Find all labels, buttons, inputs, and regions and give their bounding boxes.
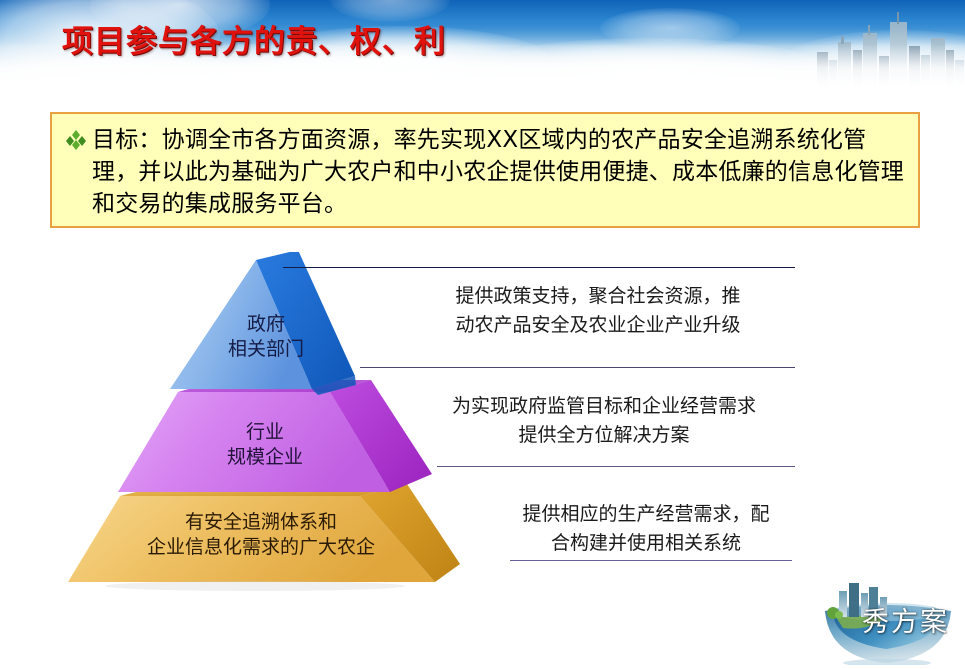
divider-line (437, 466, 795, 467)
divider-line (510, 560, 792, 561)
description-line2: 提供全方位解决方案 (404, 421, 804, 450)
description-agri-enterprises: 提供相应的生产经营需求，配 合构建并使用相关系统 (486, 500, 806, 558)
divider-line (283, 267, 795, 268)
description-line1: 提供政策支持，聚合社会资源，推 (388, 282, 808, 311)
watermark: 秀方案 (791, 573, 961, 665)
description-line2: 动农产品安全及农业企业产业升级 (388, 311, 808, 340)
watermark-text: 秀方案 (862, 600, 949, 639)
description-industry: 为实现政府监管目标和企业经营需求 提供全方位解决方案 (404, 392, 804, 450)
goal-callout-box: 目标：协调全市各方面资源，率先实现XX区域内的农产品安全追溯系统化管理，并以此为… (50, 112, 920, 228)
diamond-cluster-icon (66, 124, 92, 150)
pyramid-diagram: 政府 相关部门 行业 规模企业 有安全追溯体系和 企业信息化需求的广大农企 提供… (0, 252, 965, 604)
header-banner: 项目参与各方的责、权、利 (0, 0, 965, 88)
description-government: 提供政策支持，聚合社会资源，推 动农产品安全及农业企业产业升级 (388, 282, 808, 340)
description-line2: 合构建并使用相关系统 (486, 529, 806, 558)
description-line1: 提供相应的生产经营需求，配 (486, 500, 806, 529)
wechat-icon (791, 605, 835, 637)
divider-line (360, 367, 795, 368)
page-title: 项目参与各方的责、权、利 (62, 16, 446, 61)
slide-root: 项目参与各方的责、权、利 目标：协调全市各方面资源，率先实现XX区域内的农产品安… (0, 0, 965, 669)
goal-text: 目标：协调全市各方面资源，率先实现XX区域内的农产品安全追溯系统化管理，并以此为… (92, 124, 906, 220)
description-line1: 为实现政府监管目标和企业经营需求 (404, 392, 804, 421)
